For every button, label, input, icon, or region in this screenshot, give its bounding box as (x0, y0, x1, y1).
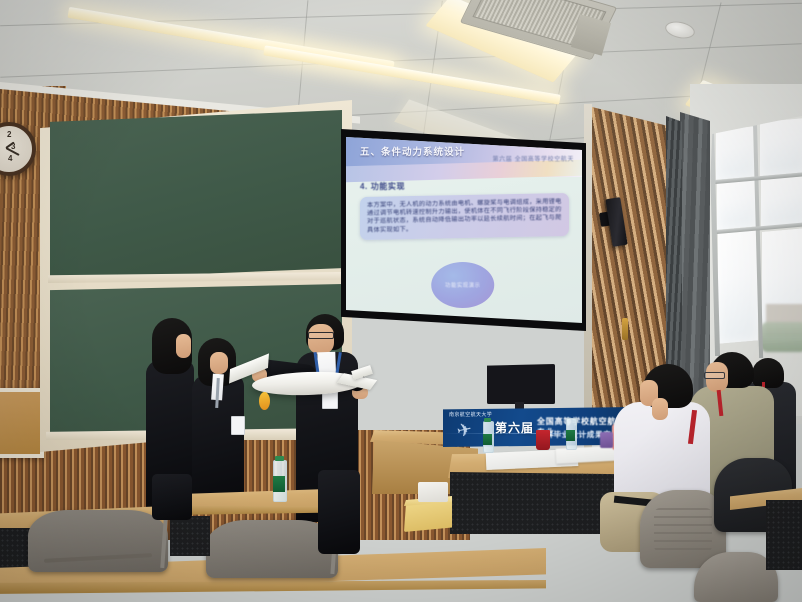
window-curtain-left (666, 116, 682, 406)
classroom-scene: 2 3 4 (0, 0, 802, 602)
purple-item-on-table (600, 432, 613, 448)
uav-model-nose-cone (259, 392, 270, 410)
window-pane-mid-right (761, 176, 802, 228)
cork-notice-board (0, 388, 44, 458)
window-pane-mid-left (717, 180, 757, 229)
window-curtain-right (680, 112, 710, 412)
slide-text-box: 本方案中，无人机的动力系统由电机、螺旋桨与电调组成，采用锂电池供电方案。 通过调… (360, 193, 569, 240)
right-desk-panel (766, 500, 802, 570)
presenter-second-face (210, 352, 228, 374)
presentation-slide: 五、条件动力系统设计 第六届 全国高等学校空航天 4. 功能实现 本方案中，无人… (346, 137, 582, 323)
presenter-main-legs (318, 470, 360, 554)
red-paper-cup (536, 430, 550, 450)
water-bottle-front-1-label-fix (273, 476, 285, 492)
projection-screen: 五、条件动力系统设计 第六届 全国高等学校空航天 4. 功能实现 本方案中，无人… (341, 129, 586, 331)
water-bottle-label-1 (483, 434, 492, 445)
banner-university-logo: 南京航空航天大学 (449, 411, 492, 418)
window-pane-top-right (760, 118, 802, 176)
rear-desk-panel-gap (170, 516, 210, 556)
presenter-third-legs (152, 474, 192, 520)
water-bottle-front-1-cap (275, 456, 284, 461)
slide-circle-label: 功能实现演示 (445, 281, 480, 289)
audience-chair-1-slats (654, 508, 712, 552)
presenter-third-face (176, 334, 191, 358)
slide-header-right-text: 第六届 全国高等学校空航天 (493, 154, 574, 163)
water-bottle-label-2 (566, 430, 575, 441)
desktop-monitor (487, 364, 555, 404)
judge-front-hand (652, 398, 668, 420)
judge-back-hair (752, 358, 784, 388)
window-pane-bottom-left (718, 230, 758, 343)
presenter-second-badge (231, 416, 245, 435)
front-chair-left[interactable] (28, 510, 168, 572)
water-bottle-cap-1 (484, 418, 491, 422)
tissue-box (418, 482, 448, 502)
clock-number-2: 2 (7, 130, 11, 139)
window-pane-top-left (716, 126, 756, 179)
judge-middle-glasses-icon (704, 372, 725, 379)
wall-hook (622, 318, 628, 340)
outside-foliage (760, 322, 802, 352)
slide-circle-shape: 功能实现演示 (431, 262, 494, 308)
blackboard-surface-upper (50, 110, 342, 280)
slide-title: 五、条件动力系统设计 (360, 144, 465, 158)
glasses-icon (308, 332, 334, 339)
slide-subtitle: 4. 功能实现 (360, 181, 405, 192)
smoke-detector-icon (664, 19, 697, 41)
airplane-icon: ✈ (455, 419, 474, 443)
presenter-main-face (308, 324, 334, 354)
clock-number-4: 4 (8, 154, 12, 163)
